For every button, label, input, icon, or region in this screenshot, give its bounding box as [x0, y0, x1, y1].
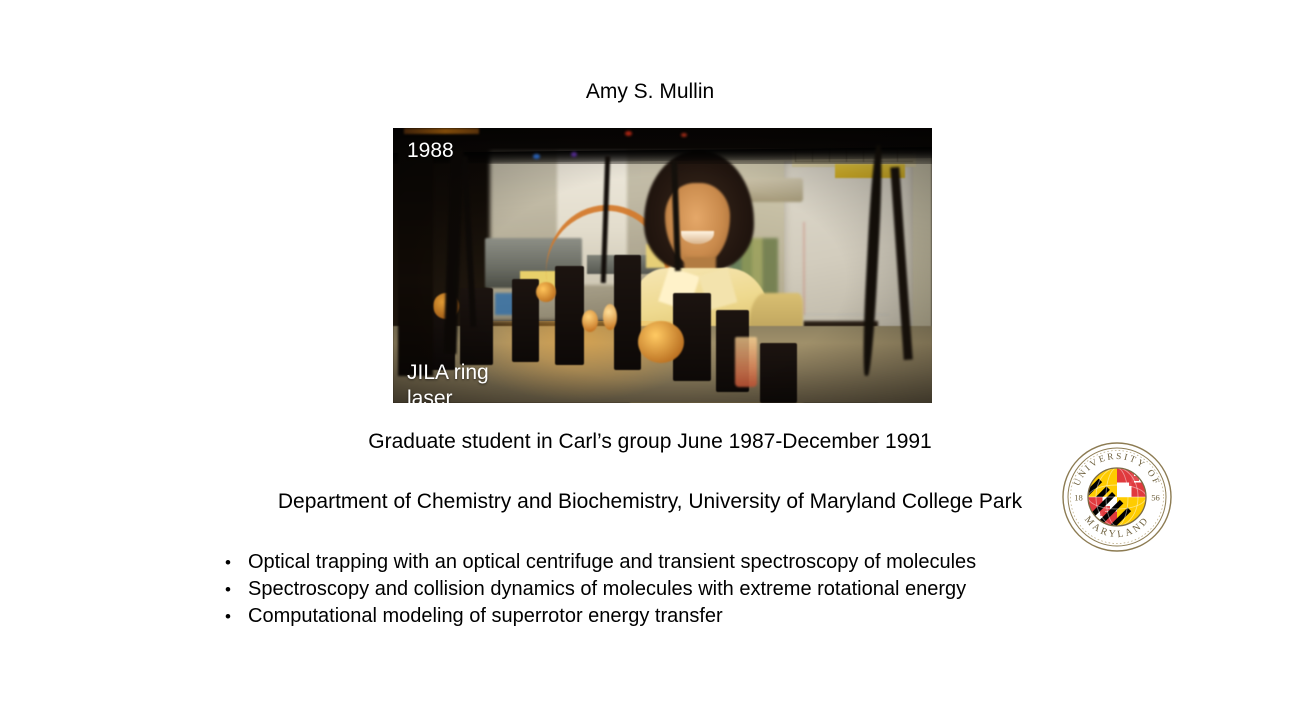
photo-dark-post — [398, 139, 433, 376]
photo-optic-mount — [555, 266, 585, 365]
page-title: Amy S. Mullin — [0, 79, 1300, 105]
photo-caption-overlay: JILA ring laser — [407, 360, 517, 403]
slide-canvas: Amy S. Mullin — [0, 0, 1300, 723]
list-item: Optical trapping with an optical centrif… — [225, 549, 1225, 576]
lab-photo: 1988 JILA ring laser — [393, 128, 932, 403]
photo-optic-mount — [760, 343, 798, 404]
seal-year-right: 56 — [1151, 493, 1160, 503]
photo-lens-glow — [638, 321, 684, 363]
photo-optic-mount — [614, 255, 641, 371]
photo-indicator-led — [571, 152, 577, 157]
seal-year-left: 18 — [1074, 493, 1083, 503]
photo-lens-glow — [582, 310, 598, 332]
university-of-maryland-seal-icon: UNIVERSITY OF MARYLAND 18 56 — [1061, 441, 1173, 553]
photo-orange-edge — [404, 128, 479, 134]
list-item: Spectroscopy and collision dynamics of m… — [225, 576, 1225, 603]
photo-beaker — [735, 337, 757, 387]
photo-year-overlay: 1988 — [407, 138, 451, 164]
research-topics-list: Optical trapping with an optical centrif… — [225, 549, 1225, 630]
photo-optic-mount — [512, 279, 539, 362]
list-item: Computational modeling of superrotor ene… — [225, 603, 1225, 630]
photo-lens-glow — [536, 282, 556, 302]
